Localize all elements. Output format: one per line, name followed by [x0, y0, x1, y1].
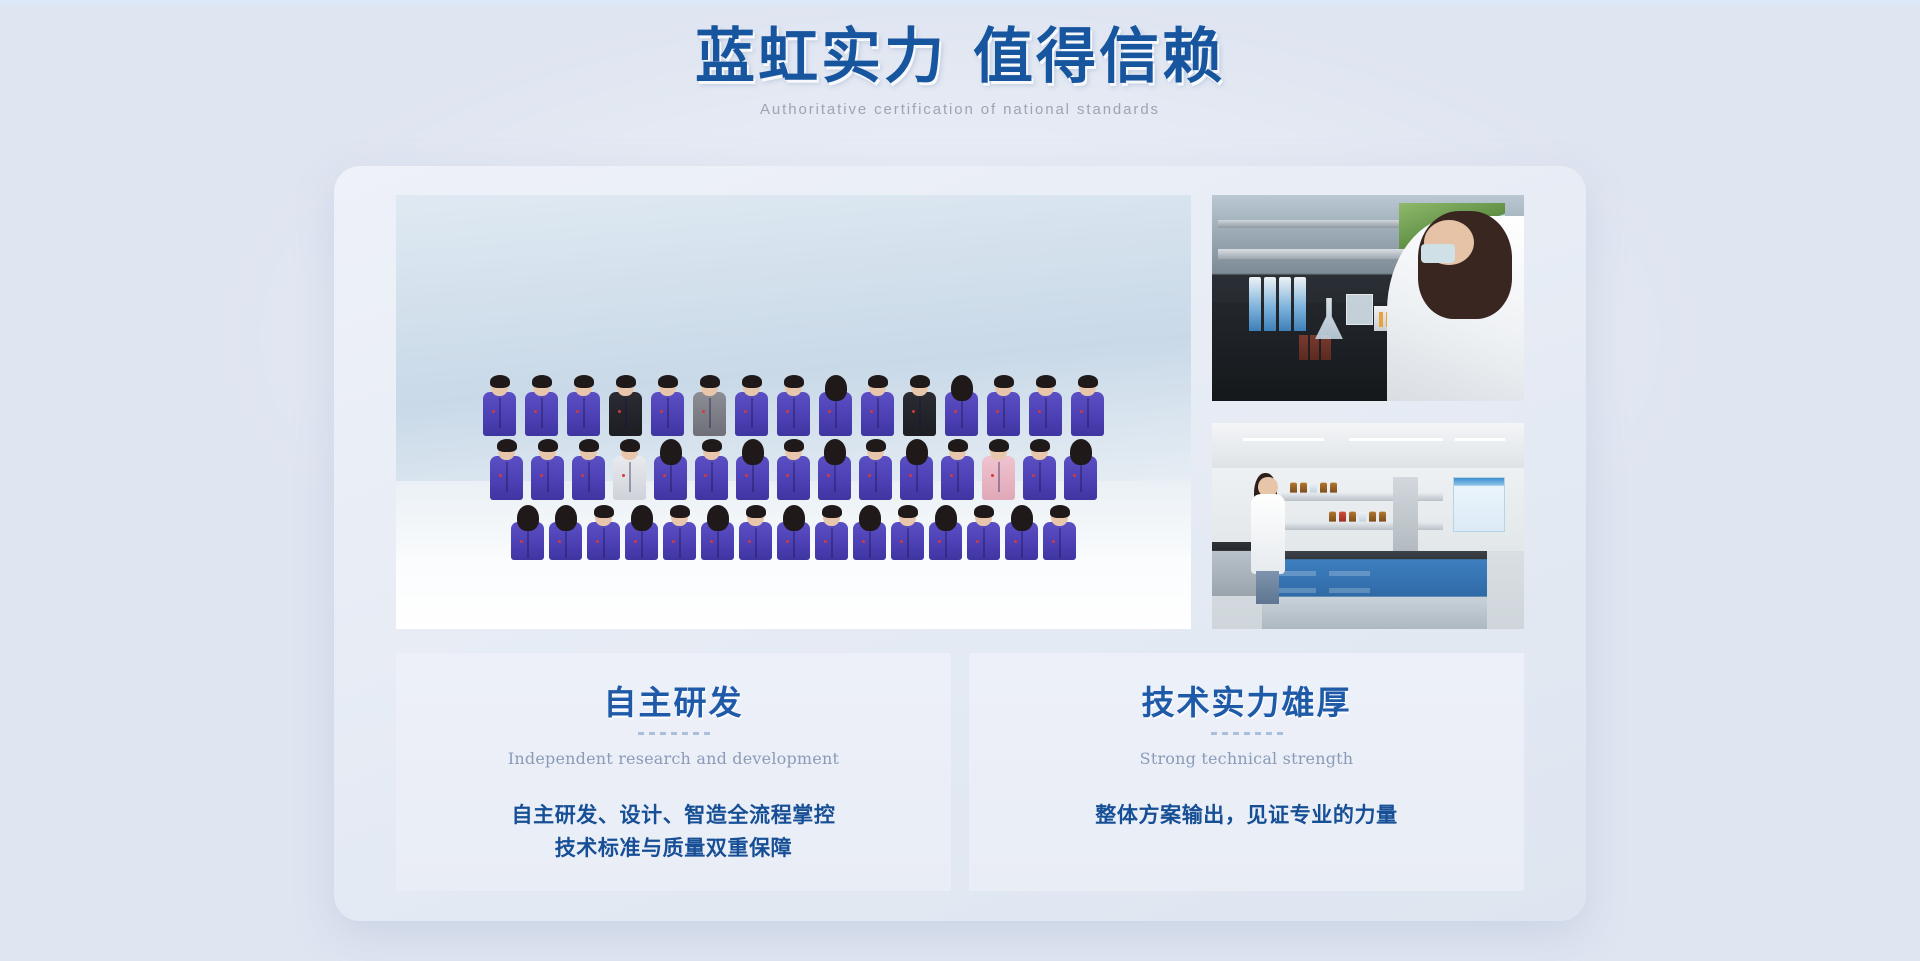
- page-root: 蓝虹实力值得信赖 Authoritative certification of …: [0, 0, 1920, 961]
- media-gallery: [396, 195, 1524, 629]
- face-mask-icon: [1421, 244, 1455, 263]
- staff-member: [482, 377, 518, 436]
- reagent-shelf-upper: [1281, 493, 1443, 501]
- staff-member: [571, 441, 607, 500]
- staff-member: [739, 507, 773, 560]
- lab-bench-scene: [1212, 195, 1524, 401]
- staff-member: [853, 507, 887, 560]
- reagent-bottle-row: [1329, 510, 1386, 522]
- staff-member: [650, 377, 686, 436]
- lab-room-scene: [1212, 423, 1524, 629]
- team-group-photo[interactable]: [396, 195, 1191, 629]
- staff-member: [692, 377, 728, 436]
- page-title-part1: 蓝虹实力: [695, 22, 947, 92]
- staff-member: [1028, 377, 1064, 436]
- staff-member: [549, 507, 583, 560]
- staff-member: [940, 441, 976, 500]
- card-english-subtitle: Strong technical strength: [1140, 749, 1354, 768]
- staff-member: [986, 377, 1022, 436]
- staff-member: [944, 377, 980, 436]
- card-body-line-1: 整体方案输出，见证专业的力量: [1095, 802, 1397, 827]
- feature-card-technical-strength[interactable]: 技术实力雄厚 Strong technical strength 整体方案输出，…: [969, 653, 1524, 891]
- staff-member: [891, 507, 925, 560]
- staff-rows: [396, 290, 1191, 559]
- laboratory-technician-photo[interactable]: [1212, 195, 1524, 401]
- staff-member: [524, 377, 560, 436]
- staff-member: [777, 507, 811, 560]
- staff-member: [902, 377, 938, 436]
- staff-member: [929, 507, 963, 560]
- staff-member: [817, 441, 853, 500]
- staff-row-front: [396, 507, 1191, 560]
- card-title: 自主研发: [604, 683, 744, 723]
- staff-member: [981, 441, 1017, 500]
- page-title: 蓝虹实力值得信赖: [0, 22, 1920, 92]
- lab-technician-figure: [1249, 477, 1286, 605]
- staff-member: [967, 507, 1001, 560]
- card-body-line-2: 技术标准与质量双重保障: [512, 831, 836, 864]
- staff-member: [1043, 507, 1077, 560]
- staff-row-back: [396, 377, 1191, 436]
- dashed-divider: [638, 732, 710, 735]
- central-island-bench: [1262, 551, 1487, 629]
- staff-member: [566, 377, 602, 436]
- staff-member: [776, 441, 812, 500]
- laboratory-room-photo[interactable]: [1212, 423, 1524, 629]
- content-panel: 自主研发 Independent research and developmen…: [334, 166, 1586, 921]
- card-body-line-1: 自主研发、设计、智造全流程掌控: [512, 802, 836, 827]
- reagent-shelf-lower: [1281, 522, 1443, 530]
- staff-member: [899, 441, 935, 500]
- page-title-part2: 值得信赖: [973, 22, 1225, 92]
- safety-notice-poster: [1453, 477, 1505, 533]
- card-english-subtitle: Independent research and development: [508, 749, 839, 768]
- staff-member: [625, 507, 659, 560]
- staff-member: [608, 377, 644, 436]
- staff-member: [735, 441, 771, 500]
- page-header: 蓝虹实力值得信赖 Authoritative certification of …: [0, 22, 1920, 118]
- dashed-divider: [1211, 732, 1283, 735]
- staff-member: [489, 441, 525, 500]
- pipette-rack: [1249, 277, 1305, 331]
- card-title: 技术实力雄厚: [1142, 683, 1352, 723]
- staff-member: [1022, 441, 1058, 500]
- card-body-text: 自主研发、设计、智造全流程掌控 技术标准与质量双重保障: [512, 798, 836, 864]
- staff-member: [530, 441, 566, 500]
- staff-member: [776, 377, 812, 436]
- staff-member: [587, 507, 621, 560]
- lab-ceiling: [1212, 423, 1524, 468]
- staff-member: [694, 441, 730, 500]
- staff-member: [860, 377, 896, 436]
- feature-cards: 自主研发 Independent research and developmen…: [396, 653, 1524, 891]
- staff-member: [815, 507, 849, 560]
- lab-upper-shelf: [1218, 220, 1399, 228]
- staff-member: [1005, 507, 1039, 560]
- group-photo-scene: [396, 195, 1191, 629]
- staff-member: [663, 507, 697, 560]
- staff-member: [701, 507, 735, 560]
- page-subtitle: Authoritative certification of national …: [0, 101, 1920, 118]
- feature-card-independent-rd[interactable]: 自主研发 Independent research and developmen…: [396, 653, 951, 891]
- staff-member: [734, 377, 770, 436]
- staff-member: [653, 441, 689, 500]
- lab-photo-column: [1212, 195, 1524, 629]
- staff-member: [511, 507, 545, 560]
- staff-member: [612, 441, 648, 500]
- staff-row-middle: [396, 441, 1191, 500]
- card-body-text: 整体方案输出，见证专业的力量: [1095, 798, 1397, 831]
- reagent-bottle-row: [1290, 481, 1337, 493]
- staff-member: [858, 441, 894, 500]
- staff-member: [1063, 441, 1099, 500]
- staff-member: [818, 377, 854, 436]
- staff-member: [1070, 377, 1106, 436]
- beaker: [1346, 294, 1373, 325]
